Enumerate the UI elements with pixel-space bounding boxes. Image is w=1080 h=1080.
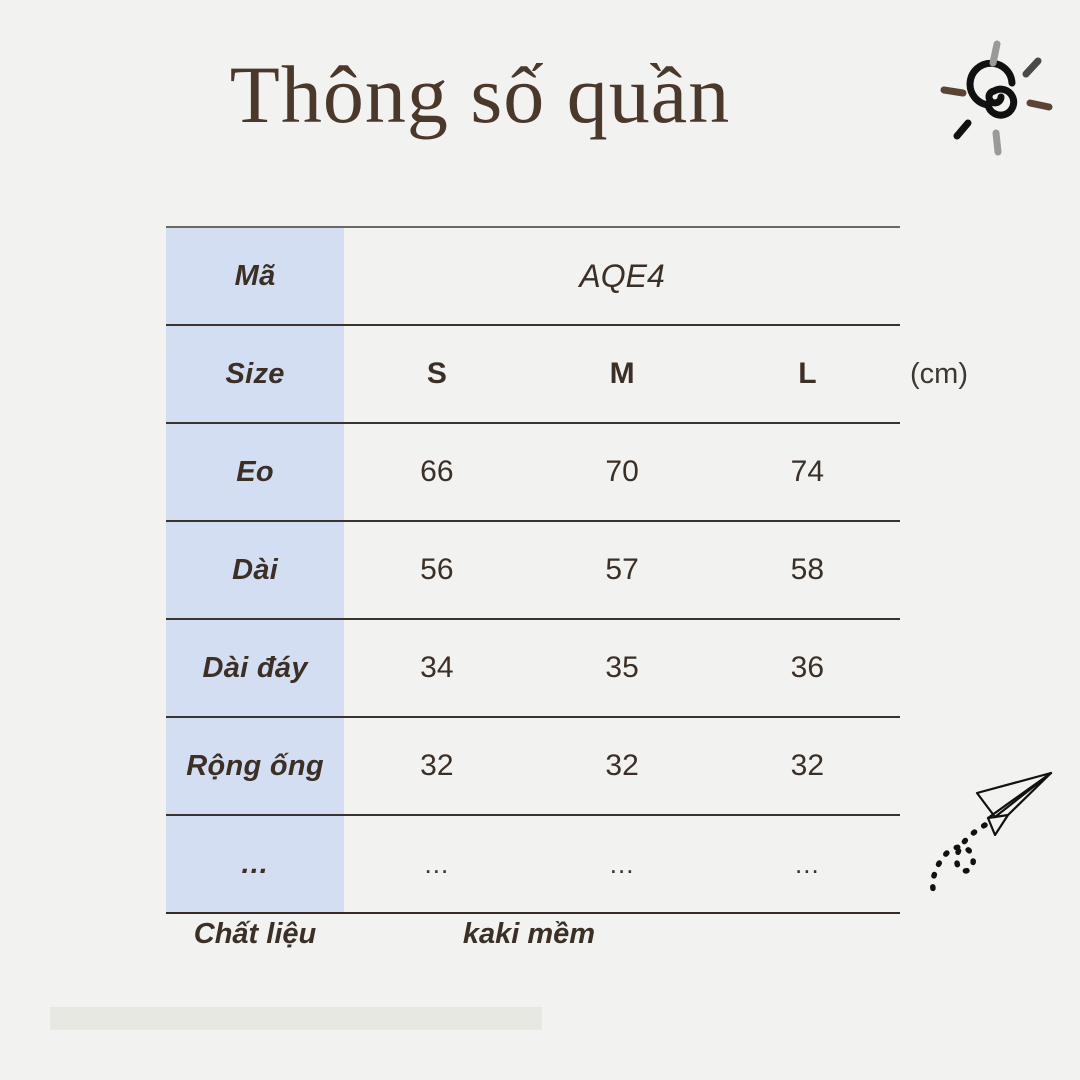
- cell-eo-m: 70: [529, 423, 714, 521]
- cell-dai-day-s: 34: [344, 619, 529, 717]
- unit-label: (cm): [910, 358, 968, 391]
- cell-rong-ong-m: 32: [529, 717, 714, 815]
- table-row: ... ... ... ...: [166, 815, 900, 913]
- size-header-l: L: [715, 325, 900, 423]
- size-chart-table: Mã AQE4 Size S M L Eo 66 70 74 Dài 56 57: [166, 226, 900, 914]
- row-label-dai-day: Dài đáy: [166, 619, 344, 717]
- cell-dai-s: 56: [344, 521, 529, 619]
- row-label-ellipsis: ...: [166, 815, 344, 913]
- decorative-bar: [50, 1007, 542, 1030]
- cell-dai-l: 58: [715, 521, 900, 619]
- row-label-eo: Eo: [166, 423, 344, 521]
- table-row: Dài 56 57 58: [166, 521, 900, 619]
- cell-ellipsis-l: ...: [715, 815, 900, 913]
- paper-plane-icon: [925, 745, 1065, 895]
- size-header-m: M: [529, 325, 714, 423]
- cell-dai-m: 57: [529, 521, 714, 619]
- row-label-dai: Dài: [166, 521, 344, 619]
- row-value-code: AQE4: [344, 227, 900, 325]
- table-row: Rộng ống 32 32 32: [166, 717, 900, 815]
- row-label-rong-ong: Rộng ống: [166, 717, 344, 815]
- material-row: Chất liệu kaki mềm: [166, 918, 900, 976]
- cell-eo-l: 74: [715, 423, 900, 521]
- row-label-code: Mã: [166, 227, 344, 325]
- cell-rong-ong-l: 32: [715, 717, 900, 815]
- table-row-code: Mã AQE4: [166, 227, 900, 325]
- size-header-s: S: [344, 325, 529, 423]
- material-label: Chất liệu: [166, 918, 344, 951]
- table-row: Dài đáy 34 35 36: [166, 619, 900, 717]
- page-title: Thông số quần: [0, 52, 1080, 138]
- table-row: Eo 66 70 74: [166, 423, 900, 521]
- cell-dai-day-l: 36: [715, 619, 900, 717]
- cell-ellipsis-m: ...: [529, 815, 714, 913]
- cell-ellipsis-s: ...: [344, 815, 529, 913]
- row-label-size: Size: [166, 325, 344, 423]
- material-value: kaki mềm: [344, 918, 714, 951]
- cell-dai-day-m: 35: [529, 619, 714, 717]
- table-row-size-header: Size S M L: [166, 325, 900, 423]
- cell-eo-s: 66: [344, 423, 529, 521]
- sun-spiral-icon: [935, 35, 1060, 160]
- cell-rong-ong-s: 32: [344, 717, 529, 815]
